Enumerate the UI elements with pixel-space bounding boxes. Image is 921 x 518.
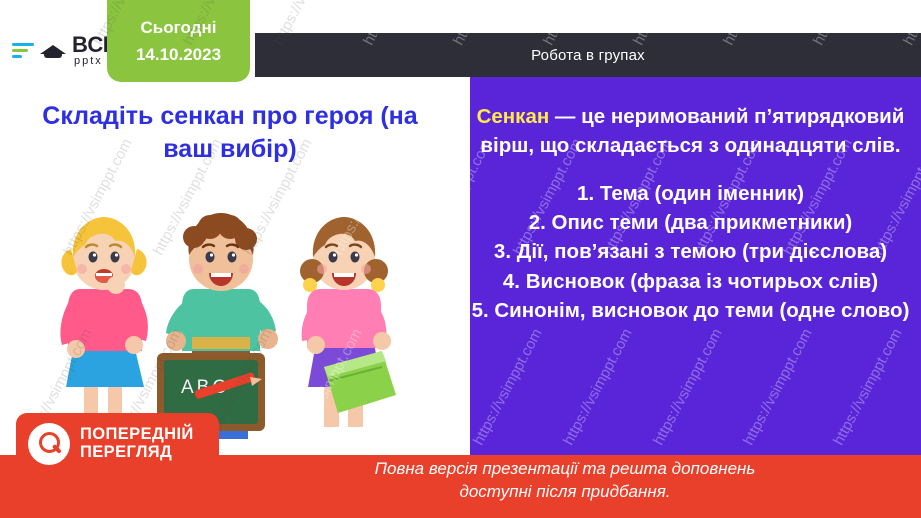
preview-badge-text: ПОПЕРЕДНІЙ ПЕРЕГЛЯД <box>80 426 194 462</box>
date-badge-label: Сьогодні <box>141 18 217 38</box>
logo-speed-lines-icon <box>12 43 34 58</box>
preview-badge[interactable]: ПОПЕРЕДНІЙ ПЕРЕГЛЯД <box>16 413 219 475</box>
preview-badge-line1: ПОПЕРЕДНІЙ <box>80 426 194 444</box>
senkan-item-5: 5. Синонім, висновок до теми (одне слово… <box>470 296 911 325</box>
senkan-keyword: Сенкан <box>477 105 550 128</box>
preview-message: Повна версія презентації та решта доповн… <box>255 457 875 504</box>
senkan-item-2: 2. Опис теми (два прикметники) <box>470 208 911 237</box>
senkan-definition-block: Сенкан — це неримований п’ятирядковий ві… <box>470 102 911 325</box>
kids-illustration: ABC <box>24 185 434 450</box>
preview-message-line1: Повна версія презентації та решта доповн… <box>255 457 875 480</box>
senkan-definition: Сенкан — це неримований п’ятирядковий ві… <box>470 102 911 160</box>
senkan-item-1: 1. Тема (один іменник) <box>470 179 911 208</box>
date-badge-date: 14.10.2023 <box>136 45 221 65</box>
date-badge: Сьогодні 14.10.2023 <box>107 0 250 82</box>
kid-left <box>60 217 147 443</box>
senkan-item-3: 3. Дії, пов’язані з темою (три дієслова) <box>470 237 911 266</box>
magnifier-icon <box>28 423 70 465</box>
section-title: Робота в групах <box>531 47 645 64</box>
preview-badge-line2: ПЕРЕГЛЯД <box>80 444 194 462</box>
task-heading: Складіть сенкан про героя (на ваш вибір) <box>28 100 432 166</box>
section-title-bar: Робота в групах <box>255 33 921 77</box>
graduation-cap-icon <box>40 43 66 59</box>
slide: Робота в групах BCIM pptx Сьогодні 14.10… <box>0 0 921 518</box>
preview-message-line2: доступні після придбання. <box>255 480 875 503</box>
senkan-item-4: 4. Висновок (фраза із чотирьох слів) <box>470 267 911 296</box>
